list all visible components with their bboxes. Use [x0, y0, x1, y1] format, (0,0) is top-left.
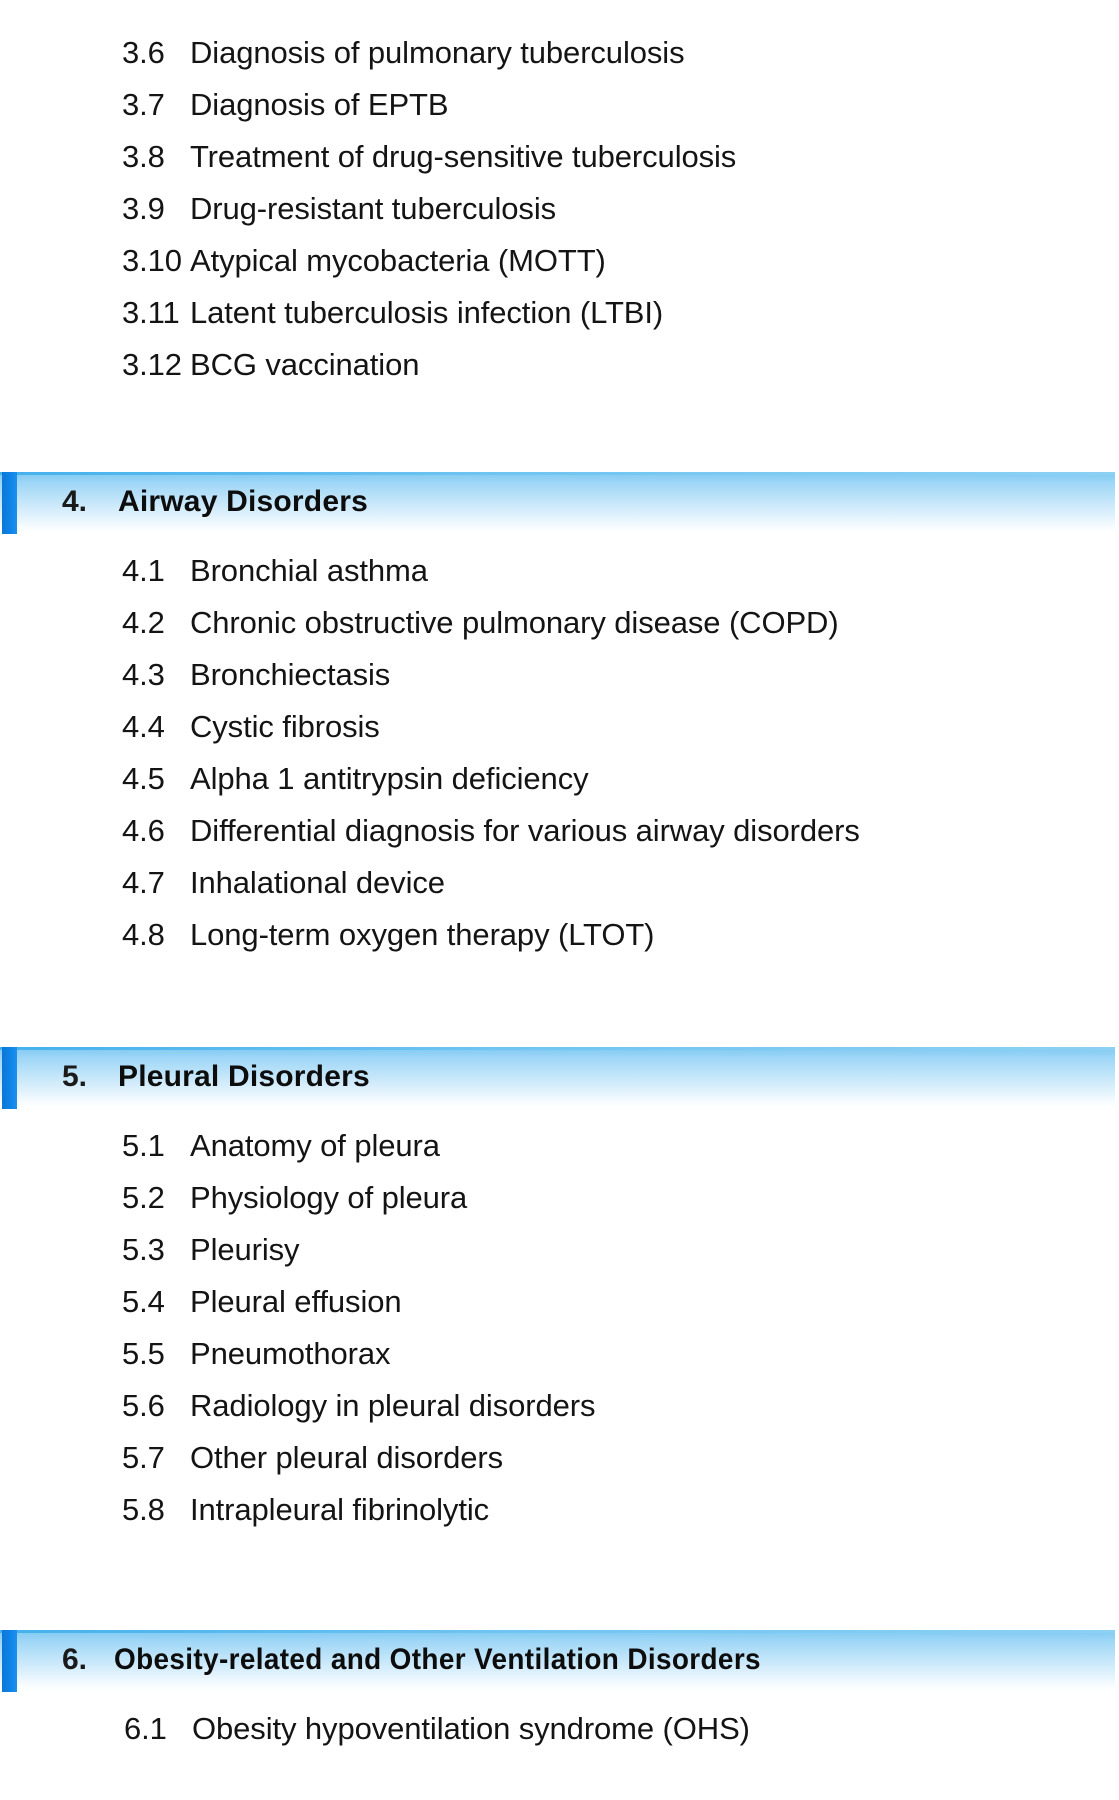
list-item[interactable]: 3.11 Latent tuberculosis infection (LTBI… — [122, 287, 1062, 339]
list-item[interactable]: 3.6 Diagnosis of pulmonary tuberculosis — [122, 27, 1062, 79]
list-item-label: Long-term oxygen therapy (LTOT) — [190, 909, 1062, 961]
list-item-number: 5.5 — [122, 1328, 190, 1380]
list-item[interactable]: 4.6 Differential diagnosis for various a… — [122, 805, 1062, 857]
list-item-label: Pneumothorax — [190, 1328, 1062, 1380]
list-item-label: Chronic obstructive pulmonary disease (C… — [190, 597, 1062, 649]
list-item-number: 4.4 — [122, 701, 190, 753]
section-4-list: 4.1 Bronchial asthma 4.2 Chronic obstruc… — [122, 485, 1062, 961]
list-item-label: Obesity hypoventilation syndrome (OHS) — [192, 1703, 1064, 1755]
list-item-label: Diagnosis of pulmonary tuberculosis — [190, 27, 1062, 79]
list-item-label: Inhalational device — [190, 857, 1062, 909]
list-item-number: 5.1 — [122, 1120, 190, 1172]
section-header-content: 6. Obesity-related and Other Ventilation… — [0, 1630, 810, 1690]
section-number: 4. — [62, 485, 118, 519]
list-item-label: Treatment of drug-sensitive tuberculosis — [190, 131, 1062, 183]
list-item-number: 4.6 — [122, 805, 190, 857]
list-item[interactable]: 3.7 Diagnosis of EPTB — [122, 79, 1062, 131]
list-item-number: 3.6 — [122, 27, 190, 79]
list-item-number: 4.8 — [122, 909, 190, 961]
list-item-number: 5.4 — [122, 1276, 190, 1328]
list-item[interactable]: 3.9 Drug-resistant tuberculosis — [122, 183, 1062, 235]
list-item-label: BCG vaccination — [190, 339, 1062, 391]
list-item-label: Atypical mycobacteria (MOTT) — [190, 235, 1062, 287]
list-item-number: 3.7 — [122, 79, 190, 131]
list-item-number: 4.7 — [122, 857, 190, 909]
list-item[interactable]: 4.1 Bronchial asthma — [122, 545, 1062, 597]
list-item-number: 5.3 — [122, 1224, 190, 1276]
section-title: Pleural Disorders — [118, 1060, 370, 1094]
list-item[interactable]: 3.12 BCG vaccination — [122, 339, 1062, 391]
list-item[interactable]: 4.8 Long-term oxygen therapy (LTOT) — [122, 909, 1062, 961]
list-item-label: Alpha 1 antitrypsin deficiency — [190, 753, 1062, 805]
list-item-label: Differential diagnosis for various airwa… — [190, 805, 1062, 857]
list-item-number: 3.8 — [122, 131, 190, 183]
list-item[interactable]: 5.3 Pleurisy — [122, 1224, 1062, 1276]
list-item-number: 3.9 — [122, 183, 190, 235]
list-item-label: Pleural effusion — [190, 1276, 1062, 1328]
list-item-number: 5.7 — [122, 1432, 190, 1484]
continued-section-3-list: 3.6 Diagnosis of pulmonary tuberculosis … — [122, 27, 1062, 391]
list-item-number: 3.12 — [122, 339, 190, 391]
list-item[interactable]: 3.8 Treatment of drug-sensitive tubercul… — [122, 131, 1062, 183]
section-header-content: 4. Airway Disorders — [0, 472, 368, 532]
list-item-number: 6.1 — [124, 1703, 192, 1755]
section-5-list: 5.1 Anatomy of pleura 5.2 Physiology of … — [122, 1060, 1062, 1536]
list-item-label: Cystic fibrosis — [190, 701, 1062, 753]
list-item[interactable]: 5.5 Pneumothorax — [122, 1328, 1062, 1380]
toc-page: 3.6 Diagnosis of pulmonary tuberculosis … — [0, 0, 1119, 1800]
list-item-number: 5.6 — [122, 1380, 190, 1432]
list-item[interactable]: 5.8 Intrapleural fibrinolytic — [122, 1484, 1062, 1536]
list-item[interactable]: 3.10 Atypical mycobacteria (MOTT) — [122, 235, 1062, 287]
section-title: Airway Disorders — [118, 485, 368, 519]
list-item[interactable]: 5.4 Pleural effusion — [122, 1276, 1062, 1328]
list-item[interactable]: 5.7 Other pleural disorders — [122, 1432, 1062, 1484]
list-item-label: Physiology of pleura — [190, 1172, 1062, 1224]
list-item-label: Intrapleural fibrinolytic — [190, 1484, 1062, 1536]
list-item[interactable]: 5.6 Radiology in pleural disorders — [122, 1380, 1062, 1432]
list-item[interactable]: 4.3 Bronchiectasis — [122, 649, 1062, 701]
list-item-number: 3.10 — [122, 235, 190, 287]
list-item-label: Radiology in pleural disorders — [190, 1380, 1062, 1432]
list-item-label: Pleurisy — [190, 1224, 1062, 1276]
list-item[interactable]: 4.7 Inhalational device — [122, 857, 1062, 909]
list-item[interactable]: 4.2 Chronic obstructive pulmonary diseas… — [122, 597, 1062, 649]
list-item-label: Drug-resistant tuberculosis — [190, 183, 1062, 235]
list-item-label: Latent tuberculosis infection (LTBI) — [190, 287, 1062, 339]
list-item[interactable]: 6.1 Obesity hypoventilation syndrome (OH… — [124, 1703, 1064, 1755]
list-item[interactable]: 5.1 Anatomy of pleura — [122, 1120, 1062, 1172]
list-item-label: Bronchial asthma — [190, 545, 1062, 597]
section-header-content: 5. Pleural Disorders — [0, 1047, 370, 1107]
list-item-number: 4.3 — [122, 649, 190, 701]
section-number: 5. — [62, 1060, 118, 1094]
list-item-number: 3.11 — [122, 287, 190, 339]
list-item-number: 4.5 — [122, 753, 190, 805]
section-number: 6. — [62, 1643, 114, 1677]
list-item-label: Anatomy of pleura — [190, 1120, 1062, 1172]
list-item-label: Diagnosis of EPTB — [190, 79, 1062, 131]
section-title: Obesity-related and Other Ventilation Di… — [114, 1643, 761, 1677]
list-item-number: 4.1 — [122, 545, 190, 597]
list-item[interactable]: 4.4 Cystic fibrosis — [122, 701, 1062, 753]
list-item-number: 4.2 — [122, 597, 190, 649]
list-item-number: 5.2 — [122, 1172, 190, 1224]
list-item[interactable]: 4.5 Alpha 1 antitrypsin deficiency — [122, 753, 1062, 805]
list-item[interactable]: 5.2 Physiology of pleura — [122, 1172, 1062, 1224]
list-item-label: Bronchiectasis — [190, 649, 1062, 701]
list-item-label: Other pleural disorders — [190, 1432, 1062, 1484]
list-item-number: 5.8 — [122, 1484, 190, 1536]
